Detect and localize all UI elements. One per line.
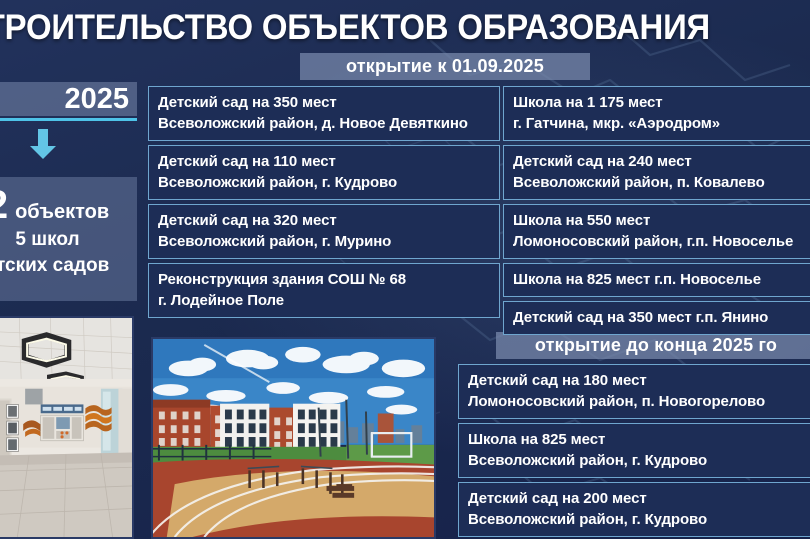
year-underline-divider [0,118,137,121]
facility-title: Школа на 1 175 мест [513,92,810,113]
facility-card[interactable]: Реконструкция здания СОШ № 68 г. Лодейно… [148,263,500,318]
facility-title: Детский сад на 200 мест [468,488,808,509]
facility-location: г. Гатчина, мкр. «Аэродром» [513,113,810,134]
banner-opening-by-date: открытие к 01.09.2025 [300,53,590,80]
facility-location: г. Лодейное Поле [158,290,490,311]
facility-card[interactable]: Школа на 1 175 мест г. Гатчина, мкр. «Аэ… [503,86,810,141]
card-column-left: Детский сад на 350 мест Всеволожский рай… [148,86,500,322]
card-column-bottom: Детский сад на 180 мест Ломоносовский ра… [458,364,810,539]
card-column-right: Школа на 1 175 мест г. Гатчина, мкр. «Аэ… [503,86,810,339]
school-exterior-sports-field-photo [151,337,436,539]
facility-card[interactable]: Детский сад на 320 мест Всеволожский рай… [148,204,500,259]
stat-total-unit: объектов [15,201,109,224]
facility-title: Детский сад на 110 мест [158,151,490,172]
facility-card[interactable]: Школа на 825 мест г.п. Новоселье [503,263,810,297]
facility-card[interactable]: Школа на 550 мест Ломоносовский район, г… [503,204,810,259]
school-interior-corridor-photo [0,316,134,539]
facility-location: Всеволожский район, г. Кудрово [158,172,490,193]
facility-location: Всеволожский район, г. Мурино [158,231,490,252]
stat-total-number: 2 [0,183,8,227]
facility-title: Школа на 825 мест [468,429,808,450]
year-label: 2025 [0,82,137,116]
school-interior-illustration [0,318,132,537]
stat-total-row: 2 объектов [0,183,137,227]
facility-card[interactable]: Детский сад на 350 мест г.п. Янино [503,301,810,335]
facility-location: Всеволожский район, г. Кудрово [468,450,808,471]
facility-card[interactable]: Детский сад на 200 мест Всеволожский рай… [458,482,810,537]
facility-card[interactable]: Школа на 825 мест Всеволожский район, г.… [458,423,810,478]
statistics-summary-box: 2 объектов 5 школ етских садов [0,177,137,301]
arrow-down-icon [29,129,57,159]
facility-title: Детский сад на 240 мест [513,151,810,172]
stat-schools-count: 5 школ [0,227,137,253]
facility-card[interactable]: Детский сад на 350 мест Всеволожский рай… [148,86,500,141]
facility-title: Реконструкция здания СОШ № 68 [158,269,490,290]
facility-location: Ломоносовский район, г.п. Новоселье [513,231,810,252]
facility-location: Ломоносовский район, п. Новогорелово [468,391,808,412]
facility-title: Детский сад на 180 мест [468,370,808,391]
facility-location: Всеволожский район, д. Новое Девяткино [158,113,490,134]
facility-title: Детский сад на 350 мест г.п. Янино [513,307,810,328]
facility-title: Детский сад на 350 мест [158,92,490,113]
year-badge: 2025 [0,82,137,116]
facility-title: Школа на 550 мест [513,210,810,231]
facility-card[interactable]: Детский сад на 240 мест Всеволожский рай… [503,145,810,200]
facility-title: Детский сад на 320 мест [158,210,490,231]
facility-location: Всеволожский район, г. Кудрово [468,509,808,530]
facility-card[interactable]: Детский сад на 180 мест Ломоносовский ра… [458,364,810,419]
page-title: СТРОИТЕЛЬСТВО ОБЪЕКТОВ ОБРАЗОВАНИЯ [0,8,733,48]
facility-location: Всеволожский район, п. Ковалево [513,172,810,193]
facility-card[interactable]: Детский сад на 110 мест Всеволожский рай… [148,145,500,200]
facility-title: Школа на 825 мест г.п. Новоселье [513,269,810,290]
arrow-down-icon-glyph [29,129,57,159]
stat-kindergartens-count: етских садов [0,253,137,279]
school-exterior-illustration [153,339,434,537]
